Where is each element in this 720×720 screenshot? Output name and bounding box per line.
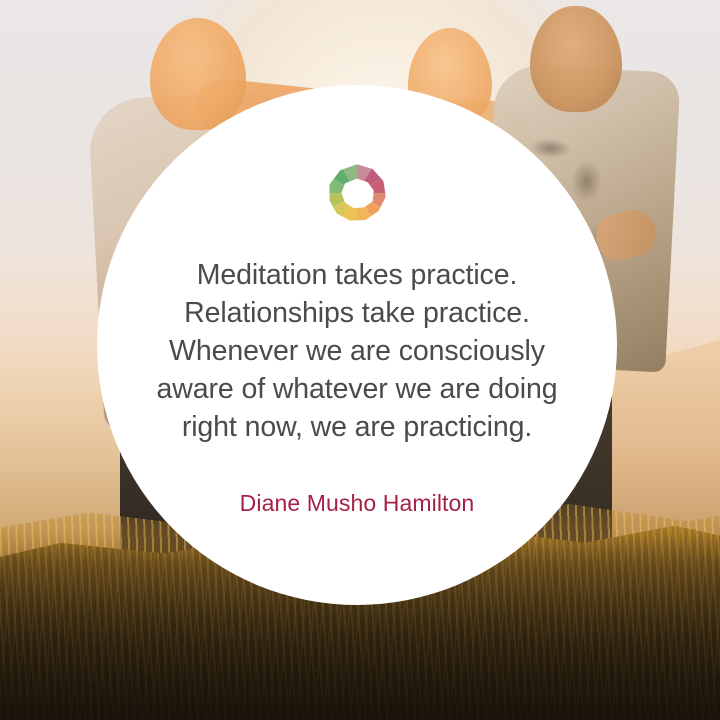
quote-text: Meditation takes practice. Relationships… bbox=[137, 257, 577, 446]
quote-author: Diane Musho Hamilton bbox=[240, 490, 475, 517]
quote-card-canvas: Meditation takes practice. Relationships… bbox=[0, 0, 720, 720]
quote-circle-panel: Meditation takes practice. Relationships… bbox=[97, 85, 617, 605]
person-right-head bbox=[530, 6, 622, 112]
ring-logo-icon bbox=[327, 163, 387, 223]
